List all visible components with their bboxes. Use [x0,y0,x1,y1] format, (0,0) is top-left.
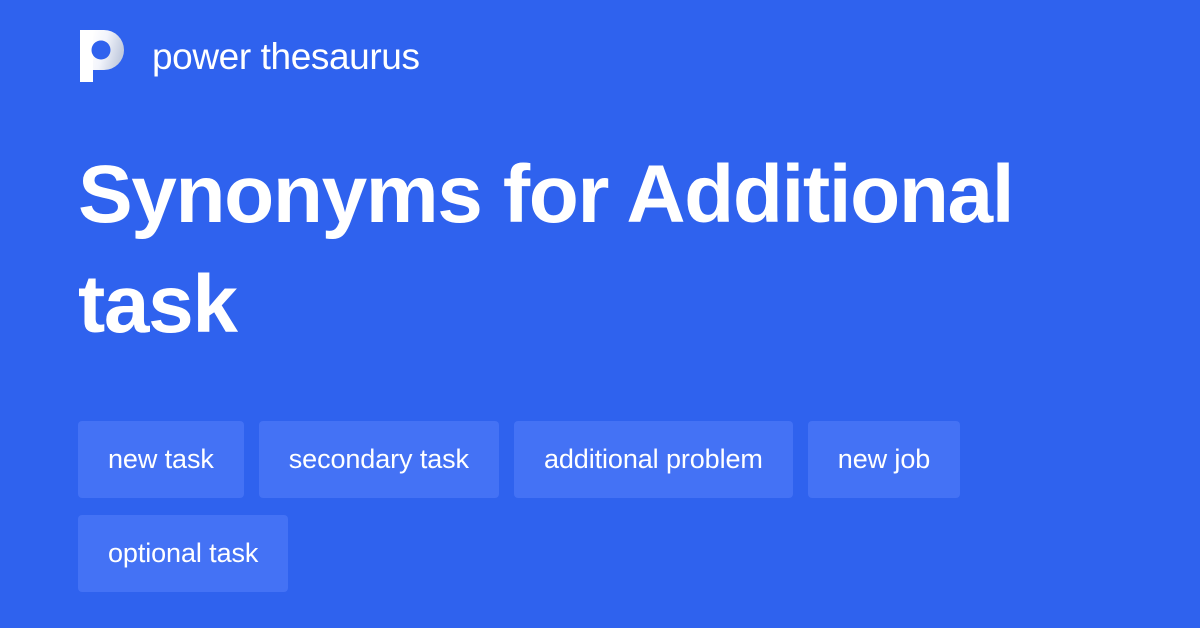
synonym-chip[interactable]: additional problem [514,421,793,498]
synonym-chip[interactable]: optional task [78,515,288,592]
page-title: Synonyms for Additional task [78,140,1098,360]
power-thesaurus-logo-icon [80,30,130,82]
share-card: power thesaurus Synonyms for Additional … [0,0,1200,628]
brand-name: power thesaurus [152,38,420,75]
synonym-chip[interactable]: secondary task [259,421,499,498]
synonym-chip[interactable]: new job [808,421,960,498]
synonym-chip[interactable]: new task [78,421,244,498]
synonym-chip-list: new task secondary task additional probl… [78,421,1118,592]
brand-header[interactable]: power thesaurus [80,30,420,82]
